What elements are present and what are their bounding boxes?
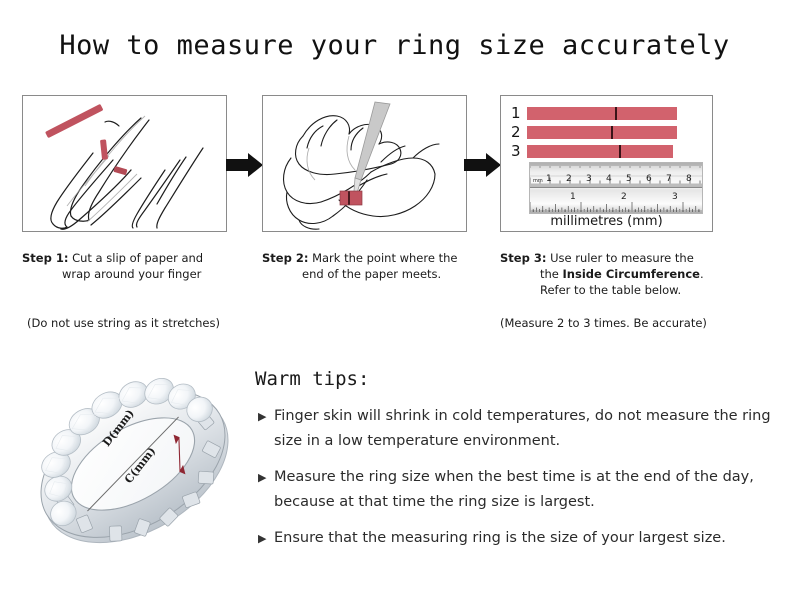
measured-strip-row-2: 2 — [511, 123, 677, 141]
strip-mark-2 — [611, 126, 613, 139]
step-3-image-panel: 1 2 3 — [500, 95, 713, 232]
step-1-line-2: wrap around your finger — [22, 266, 237, 282]
step-2-image-panel — [262, 95, 467, 232]
step-3-note: (Measure 2 to 3 times. Be accurate) — [500, 316, 707, 330]
tip-text-3: Ensure that the measuring ring is the si… — [274, 526, 726, 551]
ruler-cm-2: 2 — [566, 174, 572, 184]
marked-paper-red — [340, 191, 362, 205]
ruler-inch-1: 1 — [570, 192, 576, 202]
ruler-cm-7: 7 — [666, 174, 672, 184]
step-2-line-2: end of the paper meets. — [262, 266, 477, 282]
step-1-line-1: Cut a slip of paper and — [72, 251, 203, 265]
hand-with-paper-slip-illustration — [23, 96, 226, 231]
step-3-label: Step 3: — [500, 251, 546, 265]
step-1-image-panel — [22, 95, 227, 232]
ruler-cm-6: 6 — [646, 174, 652, 184]
inside-circumference-emphasis: Inside Circumference — [563, 267, 700, 281]
step-2-label: Step 2: — [262, 251, 308, 265]
tip-item-3: ▶ Ensure that the measuring ring is the … — [258, 526, 778, 551]
measured-strip-row-3: 3 — [511, 142, 673, 160]
triangle-right-bullet-icon: ▶ — [258, 526, 274, 551]
ruler-inch-3: 3 — [672, 192, 678, 202]
triangle-right-bullet-icon: ▶ — [258, 404, 274, 429]
step-3-line-1: Use ruler to measure the — [550, 251, 694, 265]
warm-tips-heading: Warm tips: — [255, 368, 369, 390]
step-2-line-1: Mark the point where the — [312, 251, 457, 265]
strip-mark-1 — [615, 107, 617, 120]
tip-item-2: ▶ Measure the ring size when the best ti… — [258, 465, 778, 515]
ruler-cm-5: 5 — [626, 174, 632, 184]
step-1-caption: Step 1: Cut a slip of paper and wrap aro… — [22, 250, 237, 282]
tip-item-1: ▶ Finger skin will shrink in cold temper… — [258, 404, 778, 454]
strip-number-3: 3 — [511, 142, 527, 160]
arrow-right-icon-2 — [464, 152, 502, 178]
ruler-inch-2: 2 — [621, 192, 627, 202]
strip-number-2: 2 — [511, 123, 527, 141]
triangle-right-bullet-icon: ▶ — [258, 465, 274, 490]
ruler-cm-8: 8 — [686, 174, 692, 184]
ruler-unit-label: millimetres (mm) — [501, 214, 712, 229]
paper-strip-3 — [527, 145, 673, 158]
tip-text-1: Finger skin will shrink in cold temperat… — [274, 404, 778, 454]
arrow-right-icon-1 — [226, 152, 264, 178]
tip-text-2: Measure the ring size when the best time… — [274, 465, 778, 515]
measured-strip-row-1: 1 — [511, 104, 677, 122]
paper-strip-2 — [527, 126, 677, 139]
ruler-cm-3: 3 — [586, 174, 592, 184]
step-1-note: (Do not use string as it stretches) — [27, 316, 220, 330]
step-2-caption: Step 2: Mark the point where the end of … — [262, 250, 477, 282]
ruler-mm-label: mm — [533, 178, 543, 184]
warm-tips-list: ▶ Finger skin will shrink in cold temper… — [258, 404, 778, 562]
strip-mark-3 — [619, 145, 621, 158]
ruler-graphic: 1 2 3 4 5 6 7 8 mm 1 2 3 — [529, 162, 703, 214]
strip-number-1: 1 — [511, 104, 527, 122]
step-3-line-3: Refer to the table below. — [500, 282, 730, 298]
ruler-cm-4: 4 — [606, 174, 612, 184]
page-title: How to measure your ring size accurately — [0, 30, 789, 61]
paper-slip-red — [45, 104, 127, 175]
hand-marking-paper-with-pen-illustration — [263, 96, 466, 231]
paper-strip-1 — [527, 107, 677, 120]
infographic-page: How to measure your ring size accurately — [0, 0, 789, 606]
ruler-cm-1: 1 — [546, 174, 552, 184]
step-3-caption: Step 3: Use ruler to measure the the Ins… — [500, 250, 730, 298]
step-1-label: Step 1: — [22, 251, 68, 265]
step-3-line-2: the Inside Circumference. — [500, 266, 730, 282]
